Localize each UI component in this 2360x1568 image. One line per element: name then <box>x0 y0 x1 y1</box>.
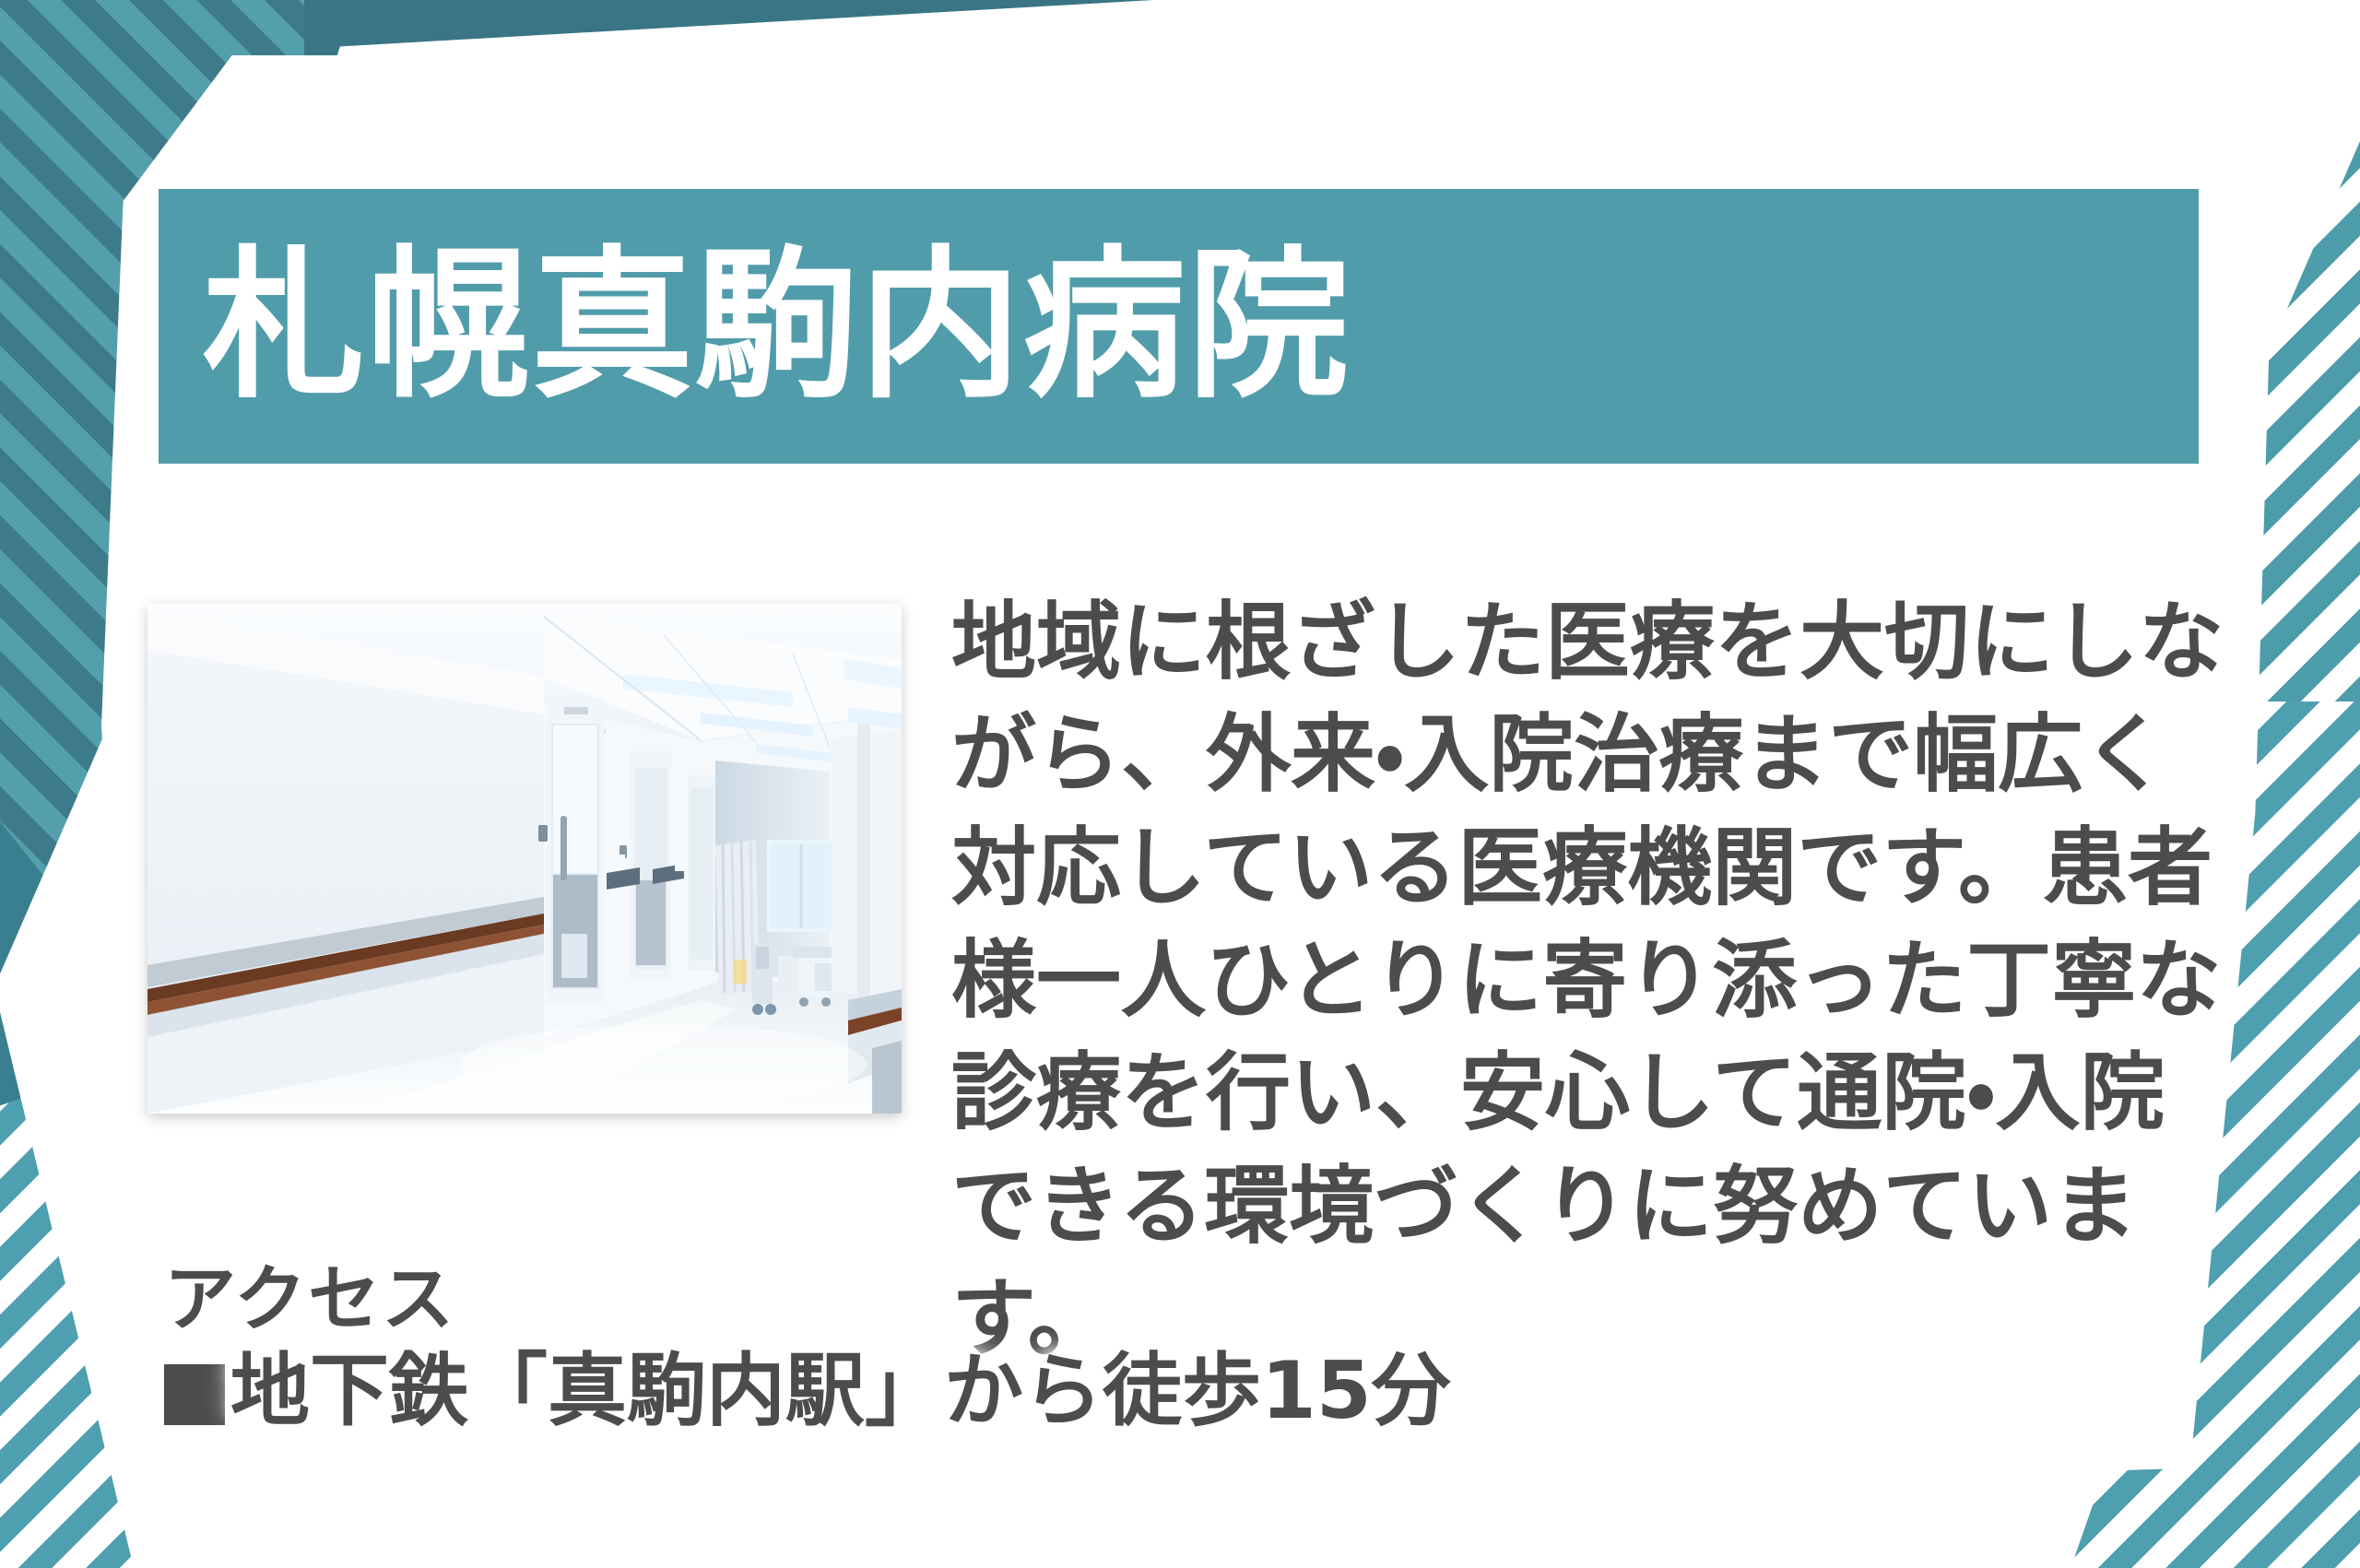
hospital-description: 地域に根ざした医療を大切にしながら、外来・入院治療まで幅広く対応している医療機関… <box>951 586 2242 1376</box>
square-bullet-icon <box>164 1364 225 1425</box>
poster-canvas: 札幌真駒内病院 <box>0 0 2360 1568</box>
hospital-corridor-photo <box>147 604 902 1114</box>
access-detail-line: 地下鉄「真駒内駅」から徒歩15分 <box>164 1346 1451 1436</box>
access-heading: アクセス <box>164 1261 1451 1338</box>
poster-content: 札幌真駒内病院 <box>0 0 2360 1568</box>
title-banner: 札幌真駒内病院 <box>159 189 2199 464</box>
corridor-illustration <box>147 604 902 1114</box>
page-title: 札幌真駒内病院 <box>203 245 1351 407</box>
access-detail-text: 地下鉄「真駒内駅」から徒歩15分 <box>230 1345 1451 1437</box>
access-section: アクセス 地下鉄「真駒内駅」から徒歩15分 <box>164 1261 1451 1436</box>
